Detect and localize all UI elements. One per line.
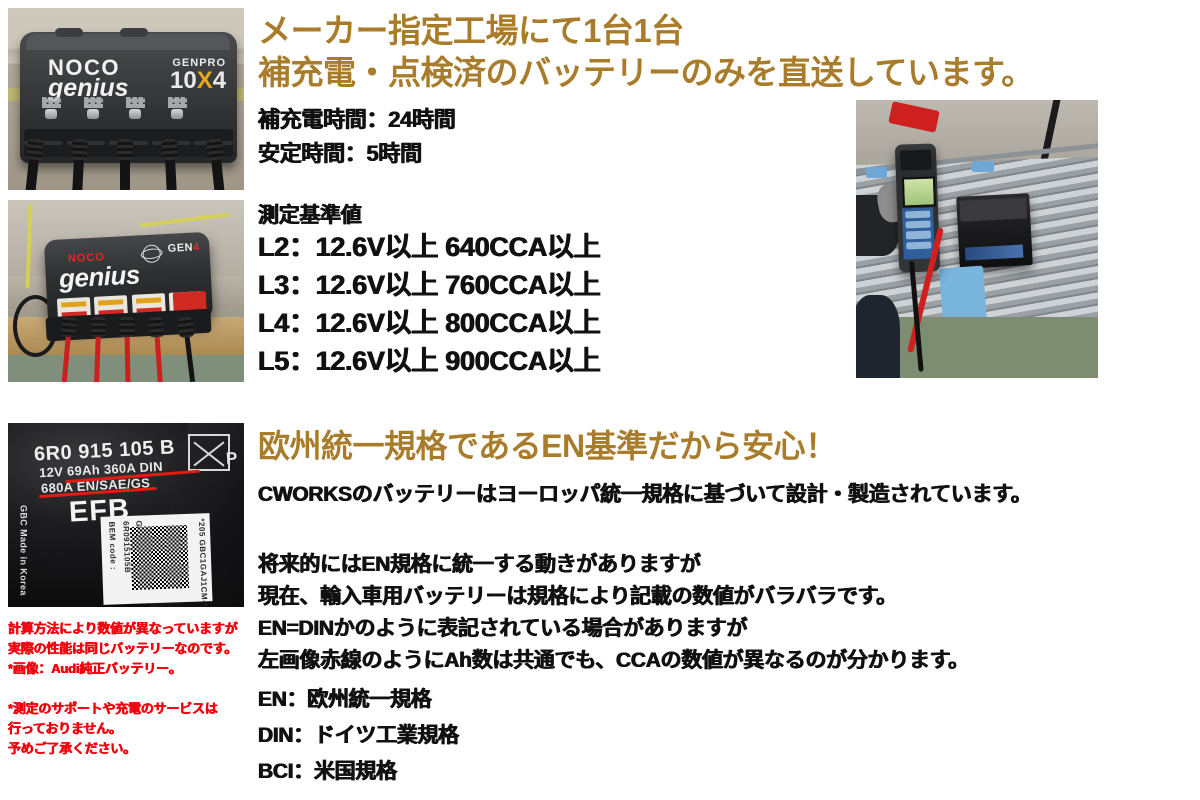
section-two-lead: CWORKSのバッテリーはヨーロッパ統一規格に基づいて設計・製造されています。 — [258, 481, 1032, 508]
section-one-headline-line2: 補充電・点検済のバッテリーのみを直送しています。 — [258, 54, 1034, 92]
section-two-body-line-2: 現在、輸入車用バッテリーは規格により記載の数値がバラバラです。 — [258, 583, 897, 610]
battery-side-code: *205 GBC1GAJ1CM-* — [197, 519, 209, 607]
charge-time-text: 補充電時間：24時間 — [258, 106, 455, 135]
photo-noco-gen4-charger: NOCO genius GEN4 — [8, 200, 244, 382]
spec-title: 測定基準値 — [258, 202, 362, 229]
standard-din: DIN：ドイツ工業規格 — [258, 722, 459, 749]
section-one-headline-line1: メーカー指定工場にて1台1台 — [258, 12, 684, 50]
photo-noco-genpro-charger: NOCO genius GENPRO 10X4 — [8, 8, 244, 190]
spec-row-l4: L4：12.6V以上 800CCA以上 — [258, 306, 600, 341]
stabilize-time-text: 安定時間：5時間 — [258, 140, 422, 169]
section-two-body-line-3: EN=DINかのように表記されている場合がありますが — [258, 615, 747, 642]
section-two-body-line-4: 左画像赤線のようにAh数は共通でも、CCAの数値が異なるのが分かります。 — [258, 647, 969, 674]
disclaimer-one-line-1: 計算方法により数値が異なっていますが — [8, 620, 238, 637]
section-two-headline: 欧州統一規格であるEN基準だから安心！ — [258, 428, 837, 465]
battery-origin-text: GBC Made in Korea — [17, 505, 28, 596]
infographic-page: NOCO genius GENPRO 10X4 — [0, 0, 1200, 800]
disclaimer-two-line-2: 行っておりません。 — [8, 720, 122, 737]
datamatrix-code — [130, 525, 189, 589]
gen4-model-text: GEN4 — [167, 241, 200, 255]
disclaimer-one-line-2: 実際の性能は同じバッテリーなのです。 — [8, 640, 237, 657]
no-disposal-icon — [188, 434, 230, 471]
genius-wordmark-gen4: genius — [58, 260, 140, 295]
noco-brand-text: NOCO genius — [48, 58, 129, 101]
photo-battery-tester — [856, 100, 1098, 378]
label-edge-text: P — [225, 448, 237, 469]
bem-code-label: BEM code : — [108, 522, 119, 571]
disclaimer-two-line-3: 予めご了承ください。 — [8, 740, 136, 757]
disclaimer-one-line-3: *画像：Audi純正バッテリー。 — [8, 660, 182, 677]
genpro-model-text: GENPRO 10X4 — [170, 58, 226, 93]
spec-row-l3: L3：12.6V以上 760CCA以上 — [258, 268, 600, 303]
section-two-body-line-1: 将来的にはEN規格に統一する動きがありますが — [258, 551, 701, 578]
disclaimer-two-line-1: *測定のサポートや充電のサービスは — [8, 700, 218, 717]
standard-bci: BCI：米国規格 — [258, 758, 397, 785]
photo-battery-label: P 6R0 915 105 B 12V 69Ah 360A DIN 680A E… — [8, 423, 244, 607]
atom-icon — [139, 243, 162, 266]
spec-row-l5: L5：12.6V以上 900CCA以上 — [258, 344, 600, 379]
standard-en: EN：欧州統一規格 — [258, 686, 431, 713]
spec-row-l2: L2：12.6V以上 640CCA以上 — [258, 230, 600, 265]
